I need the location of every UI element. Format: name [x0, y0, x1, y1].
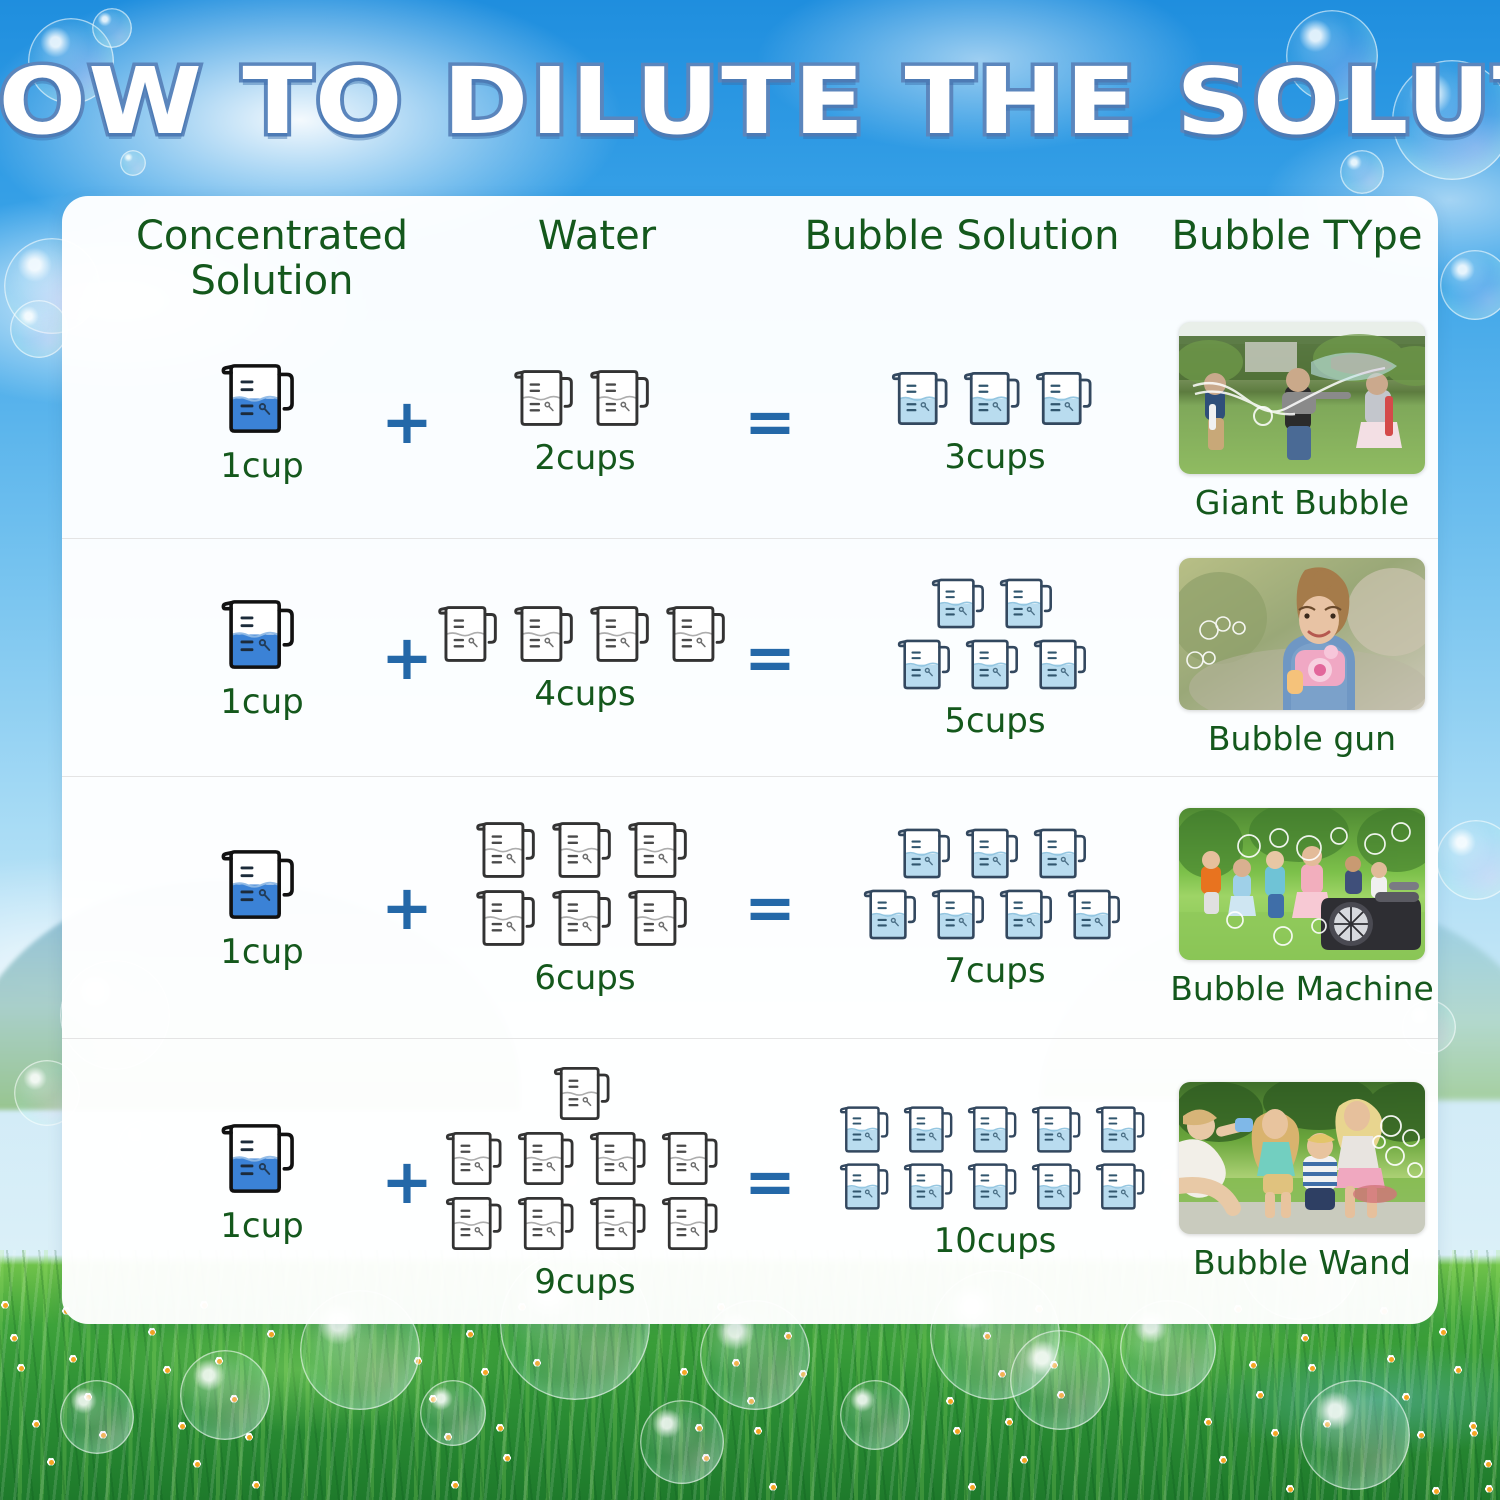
- daisy-flower: [1399, 1390, 1413, 1404]
- dilution-table-card: Concentrated Solution Water Bubble Solut…: [62, 196, 1438, 1324]
- solution-cup-group: [862, 825, 1128, 943]
- daisy-flower: [766, 1480, 780, 1494]
- bubble-solution-cell: 10cups: [810, 1039, 1180, 1324]
- water-amount-label: 6cups: [534, 958, 635, 998]
- beaker-icon: [588, 1193, 654, 1254]
- beaker-icon: [626, 886, 696, 950]
- daisy-flower: [251, 1480, 261, 1490]
- table-header-row: Concentrated Solution Water Bubble Solut…: [62, 196, 1438, 292]
- photo-giant-bubble: [1179, 322, 1425, 474]
- beaker-icon: [588, 602, 658, 666]
- daisy-flower: [1438, 1327, 1448, 1337]
- beaker-icon: [550, 818, 620, 882]
- bubble-type-label: Giant Bubble: [1195, 483, 1409, 522]
- bubble-type-label: Bubble Machine: [1170, 969, 1434, 1008]
- daisy-flower: [29, 1417, 43, 1431]
- beaker-icon: [964, 825, 1026, 882]
- beaker-icon: [444, 1128, 510, 1189]
- daisy-flower: [437, 1426, 459, 1448]
- daisy-flower: [952, 1426, 962, 1436]
- daisy-flower: [1268, 1426, 1282, 1440]
- daisy-flower: [1477, 1453, 1499, 1475]
- cup-row: [474, 886, 696, 950]
- beaker-icon: [896, 636, 958, 693]
- solution-amount-label: 10cups: [934, 1221, 1057, 1261]
- daisy-flower: [701, 1453, 711, 1463]
- daisy-flower: [264, 1327, 278, 1341]
- bubble-solution-cell: 3cups: [810, 306, 1180, 538]
- daisy-flower: [753, 1426, 763, 1436]
- daisy-flower: [463, 1327, 477, 1341]
- bubble-type-label: Bubble Wand: [1193, 1243, 1411, 1282]
- concentrate-amount-label: 1cup: [220, 682, 303, 722]
- daisy-flower: [1281, 1480, 1299, 1498]
- bubble-type-item[interactable]: Bubble Wand: [1179, 1082, 1425, 1282]
- daisy-flower: [160, 1363, 174, 1377]
- water-cell: 4cups: [420, 539, 750, 777]
- bubble-type-photo: [1179, 808, 1425, 960]
- daisy-flower: [1386, 1354, 1396, 1364]
- equals-icon: =: [744, 877, 796, 939]
- daisy-flower: [0, 1300, 10, 1310]
- water-cup-group: [474, 818, 696, 950]
- table-row: 1cup+ 2cups=: [62, 306, 1438, 538]
- column-header-water: Water: [462, 214, 732, 259]
- concentrate-cup-group: [219, 359, 305, 438]
- page-title: HOW TO DILUTE THE SOLUTION: [0, 56, 1500, 148]
- cup-row: [838, 1160, 1152, 1213]
- column-header-concentrated-line2: Solution: [191, 258, 354, 304]
- concentrate-cup-group: [219, 1119, 305, 1198]
- solution-amount-label: 3cups: [944, 437, 1045, 477]
- bubble-type-label: Bubble gun: [1208, 719, 1396, 758]
- beaker-icon: [219, 359, 305, 438]
- solution-cup-group: [896, 575, 1094, 693]
- beaker-icon: [1032, 636, 1094, 693]
- beaker-icon: [1030, 1160, 1088, 1213]
- beaker-icon: [862, 886, 924, 943]
- photo-bubble-wand: [1179, 1082, 1425, 1234]
- daisy-flower: [1056, 1390, 1066, 1400]
- bubble-type-cell: Bubble gun: [1172, 539, 1432, 777]
- bubble-type-cell: Giant Bubble: [1172, 306, 1432, 538]
- beaker-icon: [1094, 1160, 1152, 1213]
- beaker-icon: [902, 1103, 960, 1156]
- water-amount-label: 2cups: [534, 438, 635, 478]
- daisy-flower: [792, 1363, 814, 1385]
- column-header-bubble-solution: Bubble Solution: [752, 214, 1172, 259]
- daisy-flower: [3, 1327, 25, 1349]
- bubble-type-photo: [1179, 1082, 1425, 1234]
- beaker-icon: [1032, 825, 1094, 882]
- beaker-icon: [219, 1119, 305, 1198]
- concentrate-cup-group: [219, 845, 305, 924]
- cup-row: [474, 818, 696, 882]
- daisy-flower: [528, 1354, 546, 1372]
- daisy-flower: [1043, 1354, 1065, 1376]
- daisy-flower: [42, 1453, 60, 1471]
- beaker-icon: [890, 368, 956, 429]
- daisy-flower: [1320, 1417, 1334, 1431]
- bubble-type-photo: [1179, 322, 1425, 474]
- beaker-icon: [219, 845, 305, 924]
- daisy-flower: [489, 1417, 511, 1439]
- daisy-flower: [688, 1417, 710, 1439]
- bubble-type-photo: [1179, 558, 1425, 710]
- beaker-icon: [626, 818, 696, 882]
- daisy-flower: [1216, 1453, 1230, 1467]
- beaker-icon: [962, 368, 1028, 429]
- daisy-flower: [68, 1354, 78, 1364]
- daisy-flower: [1004, 1417, 1014, 1427]
- daisy-flower: [1017, 1453, 1031, 1467]
- beaker-icon: [838, 1160, 896, 1213]
- daisy-flower: [502, 1453, 512, 1463]
- photo-bubble-machine: [1179, 808, 1425, 960]
- concentrate-amount-label: 1cup: [220, 932, 303, 972]
- solution-cup-group: [838, 1103, 1152, 1213]
- daisy-flower: [978, 1327, 996, 1345]
- daisy-flower: [94, 1426, 112, 1444]
- solution-amount-label: 7cups: [944, 951, 1045, 991]
- beaker-icon: [1066, 886, 1128, 943]
- daisy-flower: [779, 1327, 797, 1345]
- cup-row: [890, 368, 1100, 429]
- cup-row: [930, 575, 1060, 632]
- beaker-icon: [930, 575, 992, 632]
- cup-row: [552, 1063, 618, 1124]
- beaker-icon: [1034, 368, 1100, 429]
- daisy-flower: [411, 1354, 425, 1368]
- beaker-icon: [474, 818, 544, 882]
- bubble-type-cell: Bubble Wand: [1172, 1039, 1432, 1324]
- cup-row: [862, 886, 1128, 943]
- daisy-flower: [147, 1327, 157, 1337]
- beaker-icon: [1030, 1103, 1088, 1156]
- cup-row: [896, 825, 1094, 882]
- daisy-flower: [1242, 1354, 1264, 1376]
- daisy-flower: [476, 1363, 494, 1381]
- daisy-flower: [727, 1354, 745, 1372]
- beaker-icon: [588, 366, 658, 430]
- cup-row: [444, 1193, 726, 1254]
- daisy-flower: [450, 1480, 460, 1490]
- beaker-icon: [552, 1063, 618, 1124]
- solution-amount-label: 5cups: [944, 701, 1045, 741]
- beaker-icon: [436, 602, 506, 666]
- daisy-flower: [1467, 1426, 1481, 1440]
- cup-row: [219, 359, 305, 438]
- cup-row: [219, 1119, 305, 1198]
- water-cell: 6cups: [420, 777, 750, 1039]
- cup-row: [219, 595, 305, 674]
- beaker-icon: [966, 1160, 1024, 1213]
- bubble-solution-cell: 7cups: [810, 777, 1180, 1039]
- concentrate-amount-label: 1cup: [220, 446, 303, 486]
- daisy-flower: [1294, 1327, 1316, 1349]
- beaker-icon: [930, 886, 992, 943]
- equals-icon: =: [744, 1151, 796, 1213]
- daisy-flower: [16, 1363, 26, 1373]
- table-row: 1cup+: [62, 538, 1438, 777]
- water-amount-label: 9cups: [534, 1262, 635, 1302]
- daisy-flower: [740, 1390, 762, 1412]
- photo-bubble-gun: [1179, 558, 1425, 710]
- beaker-icon: [512, 366, 582, 430]
- beaker-icon: [512, 602, 582, 666]
- cup-row: [896, 636, 1094, 693]
- beaker-icon: [588, 1128, 654, 1189]
- beaker-icon: [516, 1193, 582, 1254]
- daisy-flower: [991, 1363, 1013, 1385]
- daisy-flower: [212, 1354, 226, 1368]
- daisy-flower: [1425, 1480, 1447, 1500]
- bubble-solution-cell: 5cups: [810, 539, 1180, 777]
- beaker-icon: [998, 575, 1060, 632]
- water-cup-group: [512, 366, 658, 430]
- solution-cup-group: [890, 368, 1100, 429]
- beaker-icon: [998, 886, 1060, 943]
- daisy-flower: [186, 1453, 208, 1475]
- beaker-icon: [1094, 1103, 1152, 1156]
- water-cell: 9cups: [420, 1039, 750, 1324]
- daisy-flower: [1412, 1426, 1430, 1444]
- beaker-icon: [964, 636, 1026, 693]
- cup-row: [444, 1128, 726, 1189]
- concentrate-amount-label: 1cup: [220, 1206, 303, 1246]
- column-header-bubble-type: Bubble TYpe: [1162, 214, 1432, 259]
- daisy-flower: [225, 1390, 243, 1408]
- beaker-icon: [550, 886, 620, 950]
- daisy-flower: [1480, 1480, 1498, 1498]
- daisy-flower: [1203, 1417, 1213, 1427]
- beaker-icon: [474, 886, 544, 950]
- cup-row: [512, 366, 658, 430]
- column-header-concentrated: Concentrated Solution: [82, 214, 462, 304]
- cup-row: [436, 602, 734, 666]
- table-row: 1cup+: [62, 1038, 1438, 1324]
- daisy-flower: [965, 1480, 979, 1494]
- equals-icon: =: [744, 627, 796, 689]
- bubble-type-item[interactable]: Giant Bubble: [1179, 322, 1425, 522]
- concentrate-cup-group: [219, 595, 305, 674]
- beaker-icon: [219, 595, 305, 674]
- daisy-flower: [1307, 1363, 1317, 1373]
- bubble-type-cell: Bubble Machine: [1172, 777, 1432, 1039]
- daisy-flower: [238, 1426, 260, 1448]
- daisy-flower: [675, 1363, 693, 1381]
- cup-row: [838, 1103, 1152, 1156]
- daisy-flower: [1255, 1390, 1265, 1400]
- daisy-flower: [1451, 1363, 1465, 1377]
- water-amount-label: 4cups: [534, 674, 635, 714]
- cup-row: [219, 845, 305, 924]
- daisy-flower: [424, 1390, 442, 1408]
- beaker-icon: [896, 825, 958, 882]
- beaker-icon: [838, 1103, 896, 1156]
- beaker-icon: [966, 1103, 1024, 1156]
- daisy-flower: [939, 1390, 961, 1412]
- water-cell: 2cups: [420, 306, 750, 538]
- daisy-flower: [81, 1390, 95, 1404]
- bubble-type-item[interactable]: Bubble gun: [1179, 558, 1425, 758]
- bubble-type-item[interactable]: Bubble Machine: [1170, 808, 1434, 1008]
- beaker-icon: [516, 1128, 582, 1189]
- table-row: 1cup+: [62, 776, 1438, 1039]
- beaker-icon: [902, 1160, 960, 1213]
- water-cup-group: [436, 602, 734, 666]
- beaker-icon: [444, 1193, 510, 1254]
- water-cup-group: [444, 1063, 726, 1254]
- column-header-concentrated-line1: Concentrated: [136, 213, 408, 259]
- daisy-flower: [173, 1417, 191, 1435]
- equals-icon: =: [744, 391, 796, 453]
